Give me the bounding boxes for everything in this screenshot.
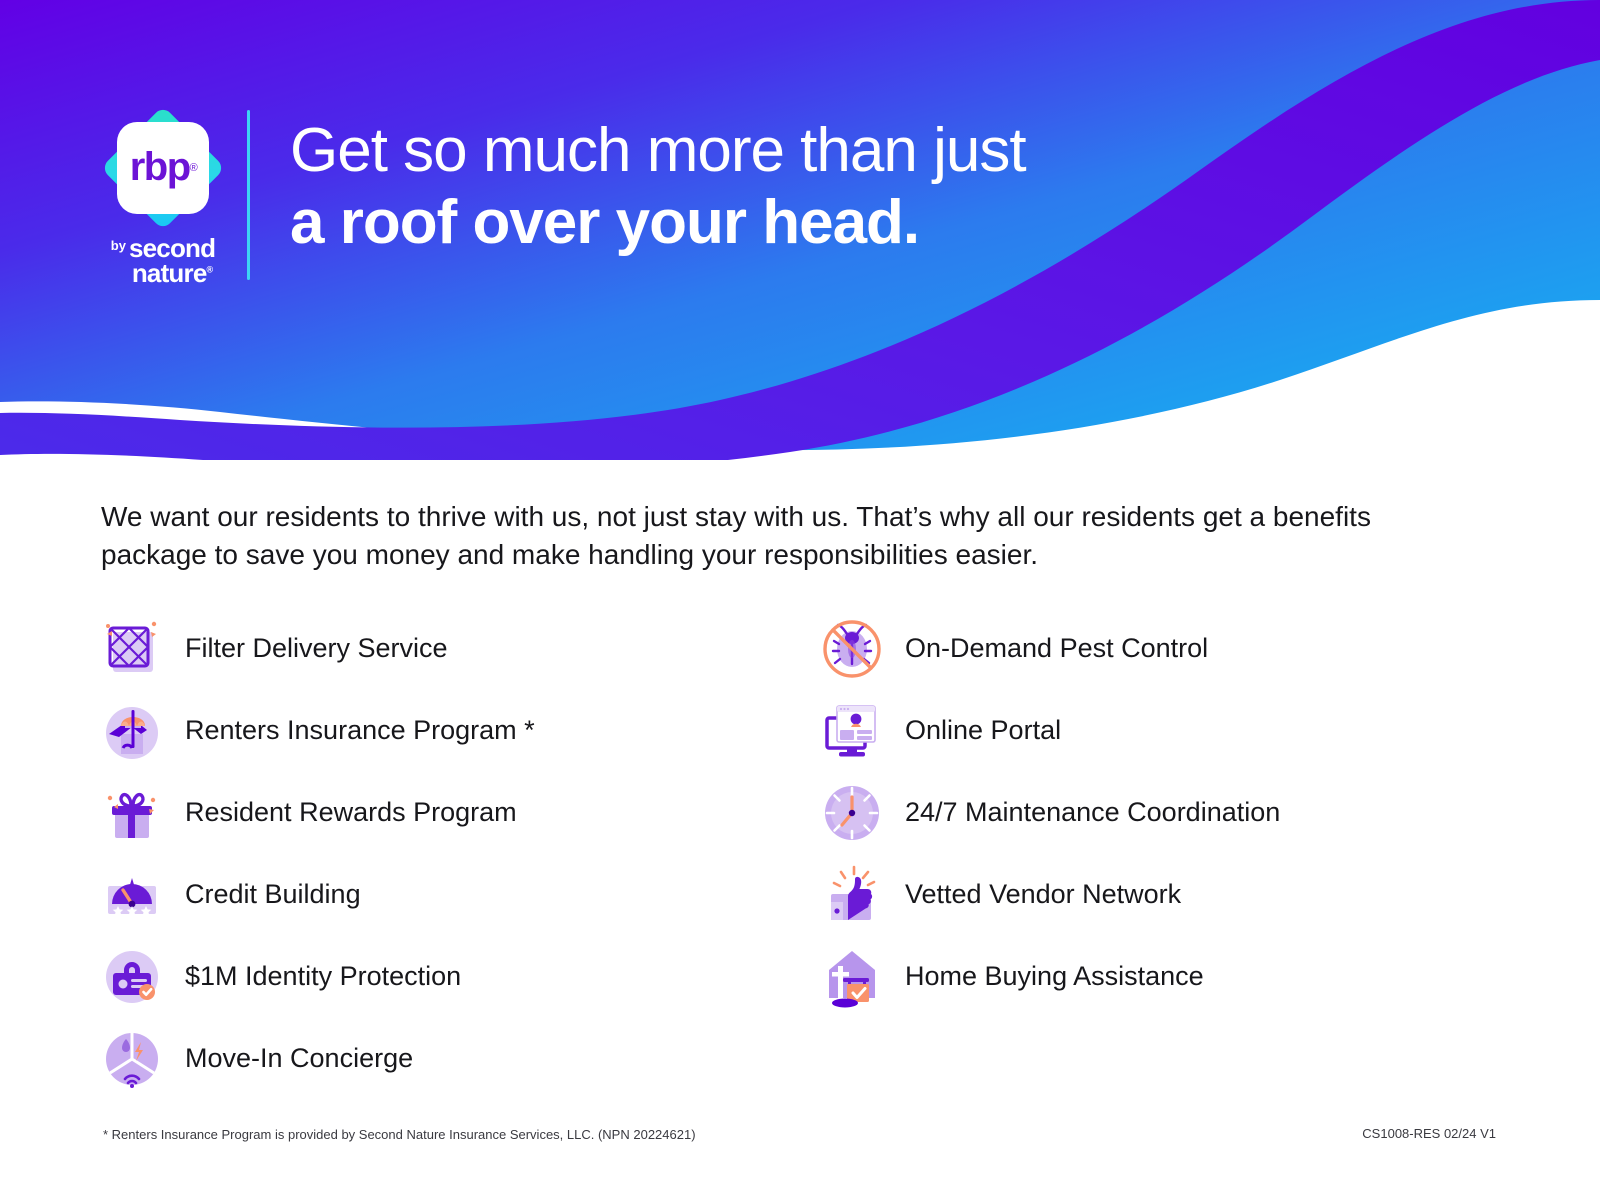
hero-headline: Get so much more than just a roof over y…	[290, 115, 1026, 259]
hero-divider	[247, 110, 250, 280]
air-filter-icon	[101, 618, 163, 680]
benefit-label: Resident Rewards Program	[185, 798, 517, 828]
benefit-label: Filter Delivery Service	[185, 634, 448, 664]
credit-gauge-stars-icon	[101, 864, 163, 926]
benefit-item: Filter Delivery Service	[101, 608, 821, 690]
benefit-label: $1M Identity Protection	[185, 962, 461, 992]
benefit-label: Vetted Vendor Network	[905, 880, 1181, 910]
benefit-item: Home Buying Assistance	[821, 936, 1501, 1018]
gift-box-icon	[101, 782, 163, 844]
logo-byline-brand-line2: nature	[132, 258, 207, 288]
logo-wordmark: rbp®	[101, 105, 226, 230]
benefit-label: Online Portal	[905, 716, 1061, 746]
thumbs-up-icon	[821, 864, 883, 926]
benefit-label: Home Buying Assistance	[905, 962, 1204, 992]
document-code: CS1008-RES 02/24 V1	[1362, 1126, 1496, 1141]
benefit-item: Vetted Vendor Network	[821, 854, 1501, 936]
no-bug-icon	[821, 618, 883, 680]
monitor-portal-icon	[821, 700, 883, 762]
intro-paragraph: We want our residents to thrive with us,…	[101, 498, 1441, 574]
benefits-column-left: Filter Delivery Service Renters Insuranc…	[101, 608, 821, 1100]
clock-icon	[821, 782, 883, 844]
hero-banner: rbp® bysecondnature® Get so much more th…	[0, 0, 1600, 460]
rbp-logo: rbp® bysecondnature®	[88, 105, 238, 286]
benefit-item: On-Demand Pest Control	[821, 608, 1501, 690]
benefit-item: Renters Insurance Program *	[101, 690, 821, 772]
house-sold-sign-icon	[821, 946, 883, 1008]
rbp-logo-mark: rbp®	[101, 105, 226, 230]
logo-registered-mark: ®	[190, 162, 197, 174]
logo-byline-registered-mark: ®	[207, 264, 213, 274]
id-wallet-check-icon	[101, 946, 163, 1008]
benefit-label: Move-In Concierge	[185, 1044, 413, 1074]
benefits-grid: Filter Delivery Service Renters Insuranc…	[101, 608, 1501, 1100]
logo-byline-brand: secondnature®	[129, 236, 215, 285]
benefit-item: $1M Identity Protection	[101, 936, 821, 1018]
benefit-label: 24/7 Maintenance Coordination	[905, 798, 1280, 828]
benefits-column-right: On-Demand Pest Control	[821, 608, 1501, 1100]
utilities-circle-icon	[101, 1028, 163, 1090]
benefit-item: Credit Building	[101, 854, 821, 936]
benefit-item: Online Portal	[821, 690, 1501, 772]
footnote-text: * Renters Insurance Program is provided …	[103, 1127, 696, 1142]
benefit-item: Move-In Concierge	[101, 1018, 821, 1100]
logo-wordmark-text: rbp	[130, 145, 190, 190]
benefit-label: Renters Insurance Program *	[185, 716, 535, 746]
benefit-label: On-Demand Pest Control	[905, 634, 1208, 664]
hero-headline-line1: Get so much more than just	[290, 115, 1026, 187]
benefit-label: Credit Building	[185, 880, 361, 910]
hero-headline-line2: a roof over your head.	[290, 187, 1026, 259]
umbrella-house-icon	[101, 700, 163, 762]
logo-byline: bysecondnature®	[111, 236, 215, 286]
benefit-item: 24/7 Maintenance Coordination	[821, 772, 1501, 854]
benefit-item: Resident Rewards Program	[101, 772, 821, 854]
logo-byline-by: by	[111, 239, 126, 252]
